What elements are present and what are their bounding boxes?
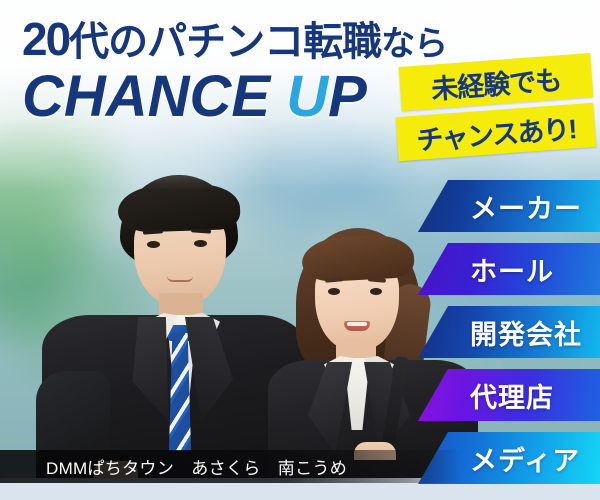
category-label-agency: 代理店 xyxy=(470,376,554,415)
category-button-development-company[interactable]: 開発会社 xyxy=(418,306,600,358)
category-button-hall[interactable]: ホール xyxy=(418,243,600,295)
credit-text: DMMぱちタウン あさくら 南こうめ xyxy=(46,454,347,479)
pachinko-job-ad-banner: 20代のパチンコ転職なら CHANCE UP 未経験でも チャンスあり! メーカ… xyxy=(0,0,600,500)
category-label-hall: ホール xyxy=(470,250,554,289)
category-label-maker: メーカー xyxy=(470,187,582,226)
category-label-development-company: 開発会社 xyxy=(470,313,582,352)
category-button-agency[interactable]: 代理店 xyxy=(418,369,600,421)
category-button-list: メーカー ホール 開発会社 代理店 メディア xyxy=(0,0,600,500)
category-button-maker[interactable]: メーカー xyxy=(418,180,600,232)
credit-bar: DMMぱちタウン あさくら 南こうめ xyxy=(0,450,462,483)
category-label-media: メディア xyxy=(470,439,580,478)
